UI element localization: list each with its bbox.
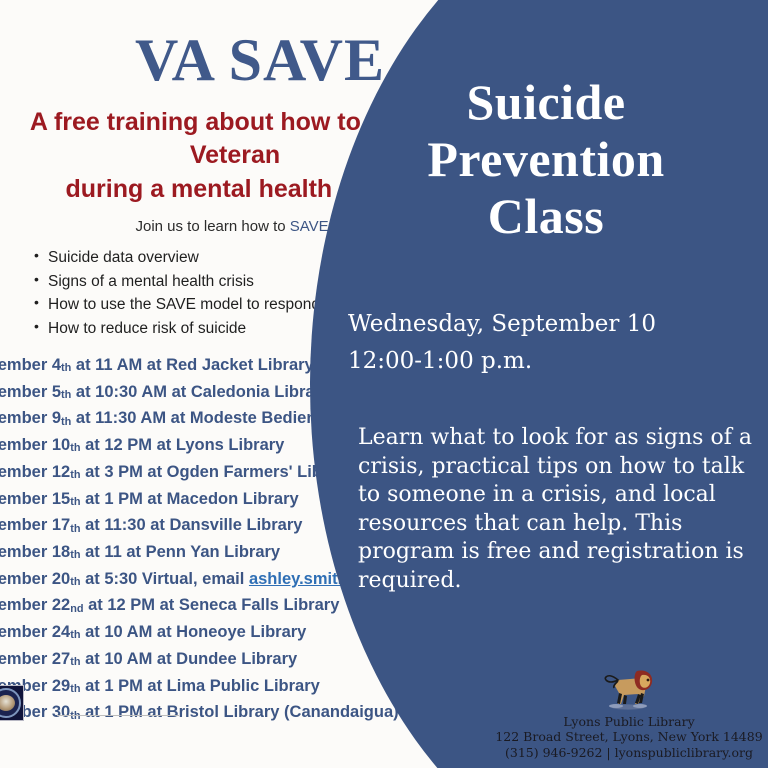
session-date-ordinal: nd — [70, 603, 83, 615]
session-date-ordinal: th — [70, 523, 80, 535]
class-schedule: Wednesday, September 10 12:00-1:00 p.m. — [348, 306, 768, 381]
session-date: September 15 — [0, 490, 70, 508]
class-time: 12:00-1:00 p.m. — [348, 343, 768, 380]
library-contact-block: Lyons Public Library 122 Broad Street, L… — [490, 714, 768, 760]
session-details: at 12 PM at Lyons Library — [80, 436, 284, 454]
session-details: at 1 PM at Macedon Library — [80, 490, 298, 508]
session-date: September 9 — [0, 409, 61, 427]
session-date: September 17 — [0, 516, 70, 534]
session-date-ordinal: th — [61, 389, 71, 401]
list-item: Suicide data overview — [48, 246, 320, 270]
session-date-ordinal: th — [61, 416, 71, 428]
page-title-line1: Suicide — [340, 74, 752, 131]
list-item: How to reduce risk of suicide — [48, 317, 320, 341]
session-date: September 12 — [0, 463, 70, 481]
session-date-ordinal: th — [70, 549, 80, 561]
join-us-prefix: Join us to learn how to — [135, 218, 289, 235]
class-info-panel: Suicide Prevention Class Wednesday, Sept… — [340, 0, 768, 768]
session-date-ordinal: th — [70, 496, 80, 508]
suicide-prevention-class-flyer: VA SAVE A free training about how to hel… — [0, 0, 768, 768]
class-date: Wednesday, September 10 — [348, 306, 768, 343]
horizontal-divider — [57, 715, 179, 716]
session-date-ordinal: th — [70, 576, 80, 588]
page-title-line3: Class — [340, 188, 752, 245]
session-date: September 24 — [0, 623, 70, 641]
list-item: How to use the SAVE model to respond — [48, 293, 320, 317]
session-date: September 5 — [0, 383, 61, 401]
session-details: at 10:30 AM at Caledonia Library — [71, 383, 330, 401]
session-date: September 18 — [0, 543, 70, 561]
training-topic-list: Suicide data overview Signs of a mental … — [30, 246, 320, 340]
session-details: at 11 AM at Red Jacket Library — [71, 356, 313, 374]
session-date-ordinal: th — [70, 442, 80, 454]
session-date: September 22 — [0, 596, 70, 614]
session-date: September 27 — [0, 650, 70, 668]
page-title-line2: Prevention — [340, 131, 752, 188]
va-seal-icon — [0, 685, 24, 721]
session-date-ordinal: th — [70, 469, 80, 481]
session-date-ordinal: th — [70, 683, 80, 695]
session-details: at 11 at Penn Yan Library — [80, 543, 280, 561]
session-details: at 12 PM at Seneca Falls Library — [84, 596, 340, 614]
session-details: at 11:30 at Dansville Library — [80, 516, 302, 534]
list-item: Signs of a mental health crisis — [48, 270, 320, 294]
session-details: at 3 PM at Ogden Farmers' Library — [80, 463, 353, 481]
lion-icon — [594, 662, 664, 712]
library-address: 122 Broad Street, Lyons, New York 14489 — [490, 729, 768, 744]
library-footer: Lyons Public Library 122 Broad Street, L… — [490, 662, 768, 760]
session-date-ordinal: th — [70, 629, 80, 641]
session-date: September 10 — [0, 436, 70, 454]
session-details: at 10 AM at Dundee Library — [80, 650, 297, 668]
session-details: at 1 PM at Lima Public Library — [80, 677, 319, 695]
session-details: at 5:30 Virtual, email — [80, 570, 248, 588]
class-description: Learn what to look for as signs of a cri… — [358, 424, 758, 596]
save-acronym: SAVE — [290, 218, 329, 235]
session-date: September 20 — [0, 570, 70, 588]
session-date: September 4 — [0, 356, 61, 374]
session-details: at 10 AM at Honeoye Library — [80, 623, 306, 641]
session-date-ordinal: th — [70, 656, 80, 668]
page-title: Suicide Prevention Class — [340, 74, 752, 245]
library-name: Lyons Public Library — [490, 714, 768, 729]
session-date-ordinal: th — [61, 362, 71, 374]
library-contact: (315) 946-9262 | lyonspubliclibrary.org — [490, 745, 768, 760]
